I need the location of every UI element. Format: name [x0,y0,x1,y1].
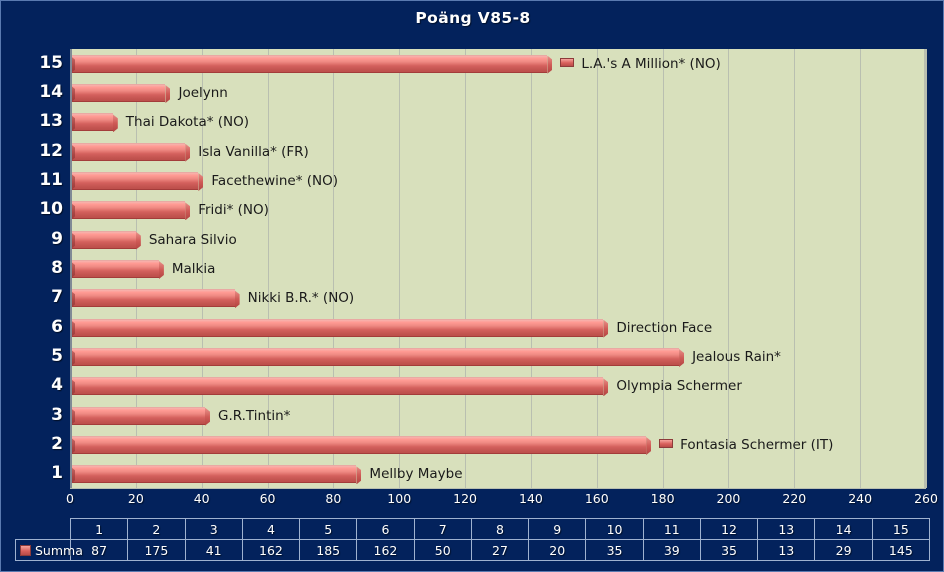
table-value-cell: 35 [700,540,757,561]
y-axis-line [70,49,72,488]
table-value-cell: 27 [471,540,528,561]
bar-row[interactable]: L.A.'s A Million* (NO) [70,49,924,78]
table-header-cell: 15 [872,519,929,540]
chart-window: Poäng V85-8 123456789101112131415 Mellby… [0,0,944,572]
data-table: 123456789101112131415 Summa 871754116218… [15,518,930,561]
y-axis-tick-14: 14 [7,82,63,102]
bar[interactable] [70,407,205,425]
table-value-cell: 162 [357,540,414,561]
bar-data-label: Nikki B.R.* (NO) [248,290,355,306]
table-row: Summa 8717541162185162502720353935132914… [16,540,930,561]
table-value-cell: 185 [300,540,357,561]
table-value-cell: 50 [414,540,471,561]
bar-data-label: Direction Face [616,320,712,336]
x-axis-tick-20: 20 [128,491,144,506]
table-value-cell: 20 [529,540,586,561]
table-value-cell: 39 [643,540,700,561]
bar-data-label: Fontasia Schermer (IT) [659,437,833,453]
page-title: Poäng V85-8 [1,9,944,27]
bar-data-label: Jealous Rain* [692,349,781,365]
table-value-cell: 29 [815,540,872,561]
y-axis-tick-9: 9 [7,229,63,249]
y-axis-tick-4: 4 [7,375,63,395]
table-value-cell: 175 [128,540,185,561]
plot-wrap: Mellby MaybeFontasia Schermer (IT)G.R.Ti… [70,49,926,489]
bar-data-label: Malkia [172,261,216,277]
y-axis-tick-15: 15 [7,53,63,73]
x-axis-tick-120: 120 [453,491,477,506]
table-header-cell: 9 [529,519,586,540]
bar-label-swatch-icon [659,439,673,448]
bar[interactable] [70,172,198,190]
table-header-cell: 14 [815,519,872,540]
plot-area: Mellby MaybeFontasia Schermer (IT)G.R.Ti… [70,49,926,489]
bar-label-text: L.A.'s A Million* (NO) [581,56,720,72]
gridline [926,49,927,488]
table-value-cell: 13 [758,540,815,561]
x-axis-tick-200: 200 [717,491,741,506]
bar-data-label: G.R.Tintin* [218,408,290,424]
bar-data-label: L.A.'s A Million* (NO) [560,56,720,72]
series-name-label: Summa [35,543,83,558]
bar-row[interactable]: Sahara Silvio [70,225,924,254]
bar-row[interactable]: Olympia Schermer [70,372,924,401]
bar-data-label: Joelynn [178,85,227,101]
x-axis-tick-80: 80 [325,491,341,506]
table-header-cell: 6 [357,519,414,540]
bar-data-label: Sahara Silvio [149,232,237,248]
y-axis-tick-3: 3 [7,405,63,425]
table-header-cell: 13 [758,519,815,540]
bar[interactable] [70,113,113,131]
x-axis-tick-140: 140 [519,491,543,506]
x-axis-tick-220: 220 [782,491,806,506]
bar-data-label: Thai Dakota* (NO) [126,114,249,130]
legend-swatch-icon [20,545,31,556]
table-header-cell: 3 [185,519,242,540]
bar-row[interactable]: Fridi* (NO) [70,196,924,225]
bar-row[interactable]: Facethewine* (NO) [70,166,924,195]
bar-row[interactable]: Nikki B.R.* (NO) [70,284,924,313]
y-axis-tick-10: 10 [7,199,63,219]
table-header-cell: 10 [586,519,643,540]
x-axis-labels: 020406080100120140160180200220240260 [70,491,926,511]
bar[interactable] [70,231,136,249]
x-axis-tick-160: 160 [585,491,609,506]
table-header-cell: 12 [700,519,757,540]
bar-data-label: Olympia Schermer [616,378,742,394]
bar[interactable] [70,289,235,307]
bar-label-swatch-icon [560,58,574,67]
y-axis-tick-8: 8 [7,258,63,278]
y-axis-tick-13: 13 [7,111,63,131]
table-header-cell: 5 [300,519,357,540]
table-row-header: 123456789101112131415 [16,519,930,540]
bar-row[interactable]: Thai Dakota* (NO) [70,108,924,137]
y-axis-tick-5: 5 [7,346,63,366]
y-axis-tick-12: 12 [7,141,63,161]
x-axis-tick-100: 100 [387,491,411,506]
x-axis-tick-240: 240 [848,491,872,506]
bar[interactable] [70,55,547,73]
x-axis-tick-60: 60 [260,491,276,506]
table-header-cell: 1 [71,519,128,540]
bar[interactable] [70,84,165,102]
table-value-cell: 35 [586,540,643,561]
y-axis-tick-11: 11 [7,170,63,190]
bar-data-label: Mellby Maybe [369,466,462,482]
table-value-cell: 162 [242,540,299,561]
bar-row[interactable]: Malkia [70,254,924,283]
y-axis-tick-1: 1 [7,463,63,483]
bar[interactable] [70,436,646,454]
bar[interactable] [70,260,159,278]
y-axis-tick-6: 6 [7,317,63,337]
x-axis-tick-180: 180 [651,491,675,506]
table-header-cell: 4 [242,519,299,540]
bar[interactable] [70,143,185,161]
y-axis-tick-2: 2 [7,434,63,454]
table-corner-cell [16,519,71,540]
x-axis-tick-40: 40 [194,491,210,506]
bar-row[interactable]: G.R.Tintin* [70,401,924,430]
x-axis-tick-260: 260 [914,491,938,506]
bar[interactable] [70,377,603,395]
table-header-cell: 7 [414,519,471,540]
bar-row[interactable]: Joelynn [70,78,924,107]
table-header-cell: 8 [471,519,528,540]
bar-row[interactable]: Isla Vanilla* (FR) [70,137,924,166]
y-axis-tick-7: 7 [7,287,63,307]
bar[interactable] [70,201,185,219]
x-axis-tick-0: 0 [66,491,74,506]
table-header-cell: 11 [643,519,700,540]
table-value-cell: 41 [185,540,242,561]
bar-row[interactable]: Direction Face [70,313,924,342]
bar-row[interactable]: Jealous Rain* [70,342,924,371]
table-row-label: Summa [16,540,71,561]
y-axis-labels: 123456789101112131415 [1,49,63,489]
bar-data-label: Facethewine* (NO) [211,173,338,189]
bar[interactable] [70,465,356,483]
bar-data-label: Fridi* (NO) [198,202,269,218]
bar-label-text: Fontasia Schermer (IT) [680,437,833,453]
table-value-cell: 145 [872,540,929,561]
bar-data-label: Isla Vanilla* (FR) [198,144,309,160]
bar[interactable] [70,348,679,366]
bar-row[interactable]: Mellby Maybe [70,460,924,489]
bar-row[interactable]: Fontasia Schermer (IT) [70,430,924,459]
table-header-cell: 2 [128,519,185,540]
bar[interactable] [70,319,603,337]
